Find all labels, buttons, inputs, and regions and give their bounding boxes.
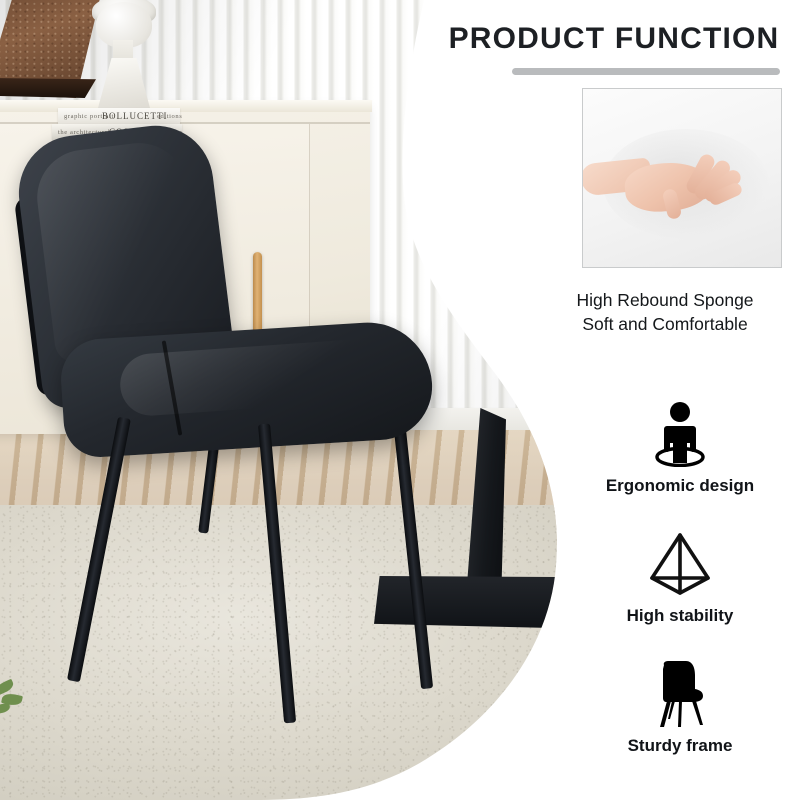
chair-leg-back-right xyxy=(394,429,433,689)
infographic-canvas: graphic portrait BOLLUCETTI editions the… xyxy=(0,0,800,800)
hand-pressing-foam-photo xyxy=(582,88,782,268)
feature-sturdy-frame: Sturdy frame xyxy=(580,658,780,756)
plant-leaf xyxy=(0,679,15,695)
title-divider xyxy=(512,68,780,75)
potted-plant xyxy=(0,676,28,722)
feature-ergonomic-design: Ergonomic design xyxy=(580,398,780,496)
wireframe-pyramid-icon xyxy=(580,528,780,600)
hand-illustration xyxy=(589,151,745,213)
product-photo: graphic portrait BOLLUCETTI editions the… xyxy=(0,0,580,800)
hero-caption-line1: High Rebound Sponge xyxy=(540,288,790,312)
plant-leaf xyxy=(0,703,11,714)
person-on-ring-icon xyxy=(580,398,780,470)
chair-silhouette-icon xyxy=(580,658,780,730)
feature-label: Sturdy frame xyxy=(580,736,780,756)
page-title: PRODUCT FUNCTION xyxy=(440,22,788,56)
feature-high-stability: High stability xyxy=(580,528,780,626)
feature-label: High stability xyxy=(580,606,780,626)
chair-leg-front-right xyxy=(258,423,296,723)
chair-back-highlight xyxy=(32,138,206,365)
hero-caption: High Rebound Sponge Soft and Comfortable xyxy=(540,288,790,336)
feature-label: Ergonomic design xyxy=(580,476,780,496)
dining-chair xyxy=(0,0,580,800)
hero-caption-line2: Soft and Comfortable xyxy=(540,312,790,336)
